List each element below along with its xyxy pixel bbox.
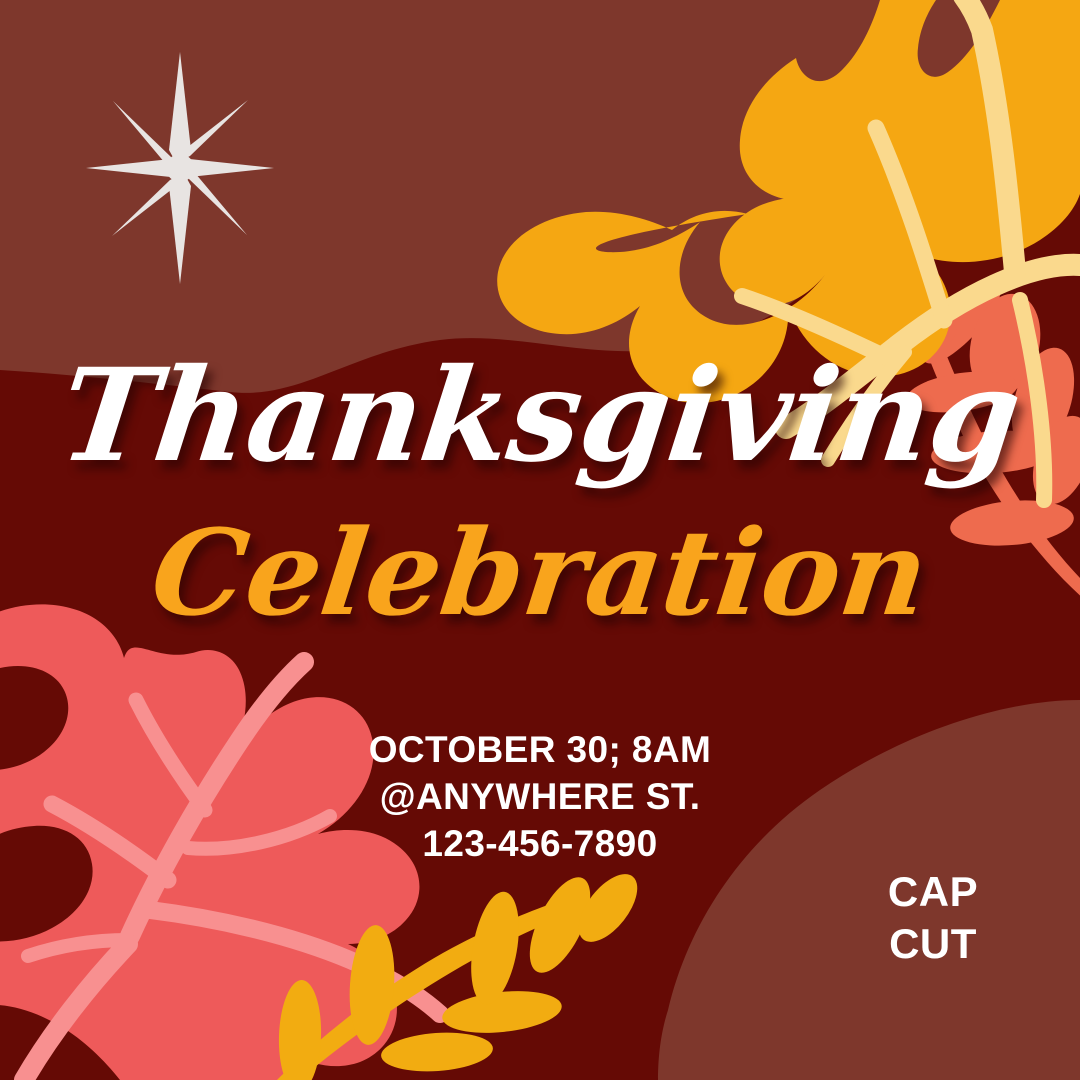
event-phone: 123-456-7890 [0, 820, 1080, 867]
poster-canvas: Thanksgiving Celebration OCTOBER 30; 8AM… [0, 0, 1080, 1080]
capcut-watermark-line-1: CAP [838, 866, 1028, 918]
event-location: @ANYWHERE ST. [0, 773, 1080, 820]
event-date-time: OCTOBER 30; 8AM [0, 726, 1080, 773]
title-thanksgiving: Thanksgiving [0, 352, 1080, 480]
capcut-watermark: CAP CUT [838, 866, 1028, 970]
yellow-fern-branch-icon [272, 864, 648, 1080]
event-details-block: OCTOBER 30; 8AM @ANYWHERE ST. 123-456-78… [0, 726, 1080, 867]
capcut-watermark-line-2: CUT [838, 918, 1028, 970]
headline-block: Thanksgiving Celebration [0, 352, 1080, 632]
title-celebration: Celebration [0, 514, 1080, 632]
